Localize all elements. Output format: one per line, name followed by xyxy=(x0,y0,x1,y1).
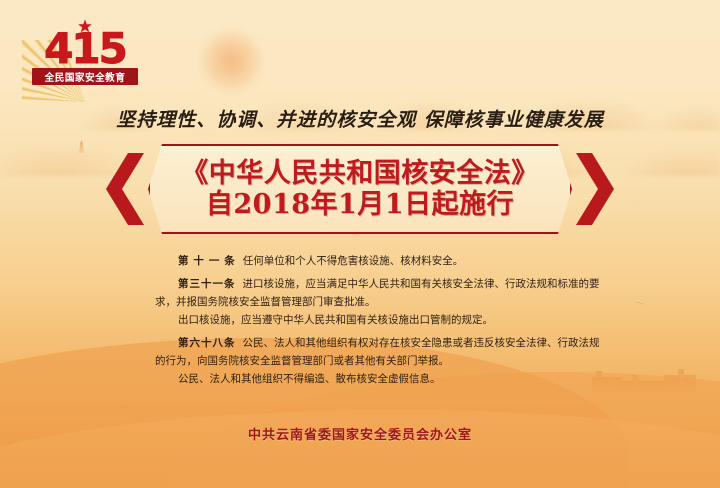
article-paragraph: 第 十 一 条任何单位和个人不得危害核设施、核材料安全。 xyxy=(164,252,564,270)
article-item: 第 十 一 条任何单位和个人不得危害核设施、核材料安全。 xyxy=(164,252,564,270)
article-number: 第三十一条 xyxy=(178,278,236,290)
logo-banner: 全民国家安全教育 xyxy=(32,68,138,85)
article-number: 第 十 一 条 xyxy=(178,255,236,267)
chevron-left-icon xyxy=(106,153,146,225)
article-line: 出口核设施，应当遵守中华人民共和国有关核设施出口管制的规定。 xyxy=(164,311,564,329)
article-line: 公民、法人和其他组织不得编造、散布核安全虚假信息。 xyxy=(164,370,564,388)
issuing-organization: 中共云南省委国家安全委员会办公室 xyxy=(0,424,720,443)
slogan-text: 坚持理性、协调、并进的核安全观 保障核事业健康发展 xyxy=(0,105,720,132)
article-line: 求，并报国务院核安全监督管理部门审查批准。 xyxy=(155,293,564,311)
title-line-1: 《中华人民共和国核安全法》 xyxy=(181,159,539,188)
article-item: 第六十八条公民、法人和其他组织有权对存在核安全隐患或者违反核安全法律、行政法规 … xyxy=(164,334,564,388)
article-line: 公民、法人和其他组织有权对存在核安全隐患或者违反核安全法律、行政法规 xyxy=(243,337,600,349)
title-line-2: 自2018年1月1日起施行 xyxy=(206,190,514,219)
article-item: 第三十一条进口核设施，应当满足中华人民共和国有关核安全法律、行政法规和标准的要 … xyxy=(164,275,564,329)
articles-list: 第 十 一 条任何单位和个人不得危害核设施、核材料安全。 第三十一条进口核设施，… xyxy=(164,252,564,393)
logo-banner-text: 全民国家安全教育 xyxy=(45,69,126,84)
logo-415: ★ 415 全民国家安全教育 xyxy=(18,6,152,86)
article-number: 第六十八条 xyxy=(178,337,236,349)
chevron-right-icon xyxy=(574,153,614,225)
bird-icon: 〜 xyxy=(120,404,128,412)
article-line: 的行为，向国务院核安全监督管理部门或者其他有关部门举报。 xyxy=(155,352,564,370)
title-banner: 《中华人民共和国核安全法》 自2018年1月1日起施行 xyxy=(148,144,572,234)
bird-icon: 〜 xyxy=(636,300,644,308)
article-paragraph: 第三十一条进口核设施，应当满足中华人民共和国有关核安全法律、行政法规和标准的要 xyxy=(164,275,564,293)
article-line: 进口核设施，应当满足中华人民共和国有关核安全法律、行政法规和标准的要 xyxy=(243,278,600,290)
logo-number: 415 xyxy=(18,28,152,70)
title-banner-group: 《中华人民共和国核安全法》 自2018年1月1日起施行 xyxy=(106,144,614,234)
article-paragraph: 第六十八条公民、法人和其他组织有权对存在核安全隐患或者违反核安全法律、行政法规 xyxy=(164,334,564,352)
poster-root: 〜 〜 〜 〜 〜 ★ 415 全民国家安全教育 坚持理性、协调、并进的核安全观… xyxy=(0,0,720,488)
article-line: 任何单位和个人不得危害核设施、核材料安全。 xyxy=(243,255,464,267)
